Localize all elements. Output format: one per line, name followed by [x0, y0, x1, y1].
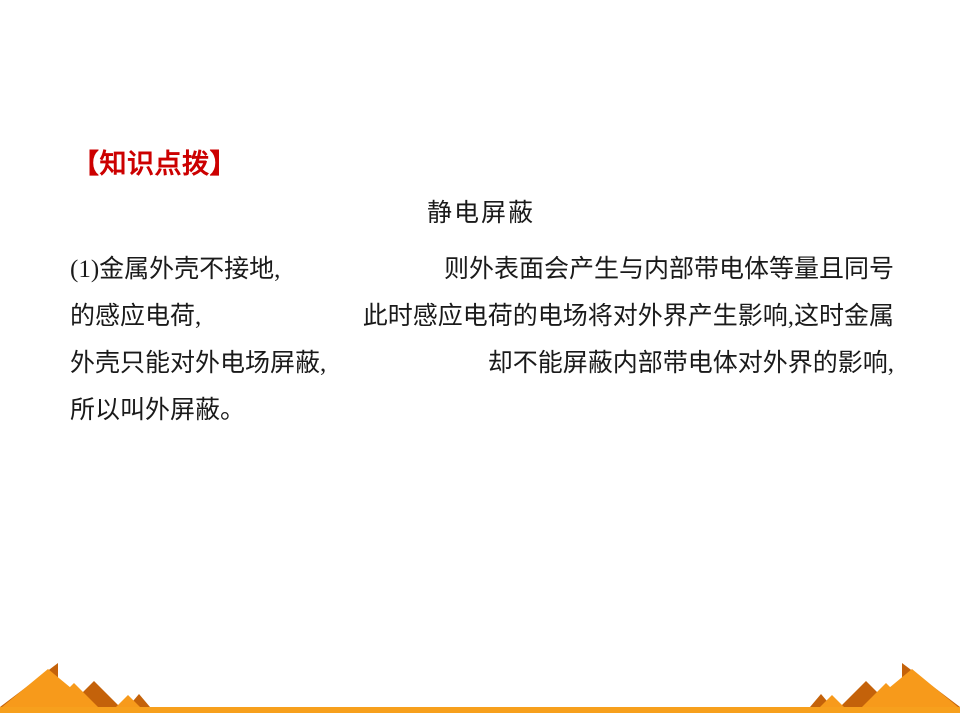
body-line: 所以叫外屏蔽。 — [70, 387, 894, 434]
body-line-left: 所以叫外屏蔽。 — [70, 397, 245, 424]
body-line-right: 此时感应电荷的电场将对外界产生影响,这时金属 — [363, 293, 894, 340]
body-line: (1)金属外壳不接地, 则外表面会产生与内部带电体等量且同号 — [70, 246, 894, 293]
bottom-rule — [0, 707, 960, 713]
body-line-right: 却不能屏蔽内部带电体对外界的影响, — [488, 340, 894, 387]
body-line-left: 的感应电荷, — [70, 293, 201, 340]
body-line-left: (1)金属外壳不接地, — [70, 246, 280, 293]
bottom-decoration — [0, 658, 960, 720]
body-paragraph: (1)金属外壳不接地, 则外表面会产生与内部带电体等量且同号 的感应电荷, 此时… — [70, 246, 894, 434]
triangle-light-icon — [50, 683, 98, 707]
triangle-light-icon — [862, 683, 910, 707]
body-line-left: 外壳只能对外电场屏蔽, — [70, 340, 326, 387]
triangle-light-icon — [116, 695, 140, 707]
triangle-light-icon — [820, 695, 844, 707]
slide-canvas: 【知识点拨】 静电屏蔽 (1)金属外壳不接地, 则外表面会产生与内部带电体等量且… — [0, 0, 960, 720]
topic-title: 静电屏蔽 — [72, 198, 890, 231]
body-line: 的感应电荷, 此时感应电荷的电场将对外界产生影响,这时金属 — [70, 293, 894, 340]
section-heading-knowledge-tip: 【知识点拨】 — [72, 148, 237, 180]
body-line-right: 则外表面会产生与内部带电体等量且同号 — [444, 246, 894, 293]
body-line: 外壳只能对外电场屏蔽, 却不能屏蔽内部带电体对外界的影响, — [70, 340, 894, 387]
